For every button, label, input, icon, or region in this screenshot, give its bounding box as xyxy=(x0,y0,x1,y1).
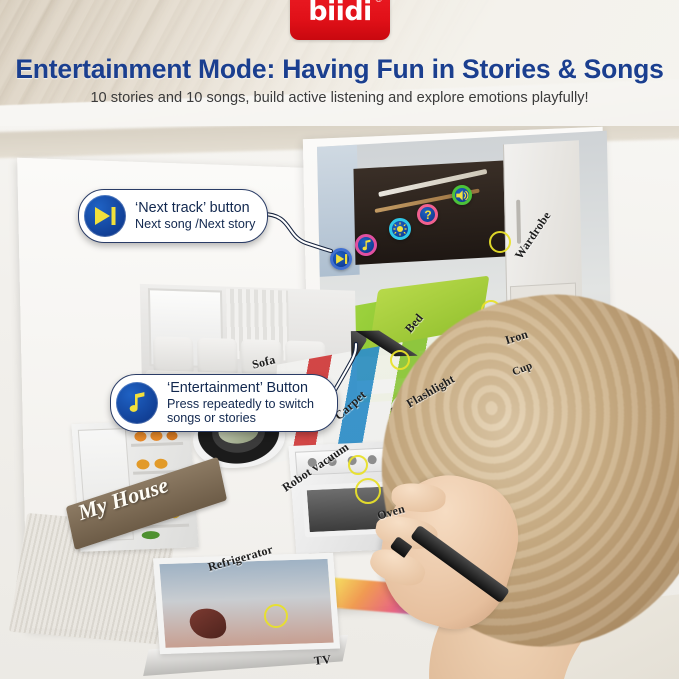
callout-entertainment-subtitle: Press repeatedly to switch songs or stor… xyxy=(167,397,325,427)
product-infographic: biidi ® Entertainment Mode: Having Fun i… xyxy=(0,0,679,679)
page-subtitle: 10 stories and 10 songs, build active li… xyxy=(0,90,679,106)
question-icon[interactable]: ? xyxy=(417,204,438,225)
picture-label: TV xyxy=(313,652,332,669)
music-note-icon[interactable] xyxy=(355,234,377,256)
svg-text:?: ? xyxy=(424,208,431,222)
callout-next-track-title: ‘Next track’ button xyxy=(135,200,255,217)
speaker-icon[interactable] xyxy=(452,185,472,205)
hotspot-ring[interactable] xyxy=(390,350,410,370)
hotspot-ring[interactable] xyxy=(489,231,511,253)
music-note-icon xyxy=(116,382,158,424)
callout-entertainment-title: ‘Entertainment’ Button xyxy=(167,380,325,397)
hotspot-ring[interactable] xyxy=(348,455,368,475)
brand-logo: biidi ® xyxy=(290,0,390,40)
hotspot-ring[interactable] xyxy=(355,478,381,504)
registered-trademark-icon: ® xyxy=(375,0,382,4)
next-track-icon xyxy=(84,195,126,237)
hotspot-ring[interactable] xyxy=(264,604,288,628)
callout-entertainment[interactable]: ‘Entertainment’ Button Press repeatedly … xyxy=(110,374,338,432)
sun-star-icon[interactable] xyxy=(389,218,411,240)
callout-next-track-subtitle: Next song /Next story xyxy=(135,217,255,232)
tv-photo xyxy=(153,553,340,654)
next-track-icon[interactable] xyxy=(330,248,352,270)
page-title: Entertainment Mode: Having Fun in Storie… xyxy=(0,54,679,85)
callout-next-track[interactable]: ‘Next track’ button Next song /Next stor… xyxy=(78,189,268,243)
